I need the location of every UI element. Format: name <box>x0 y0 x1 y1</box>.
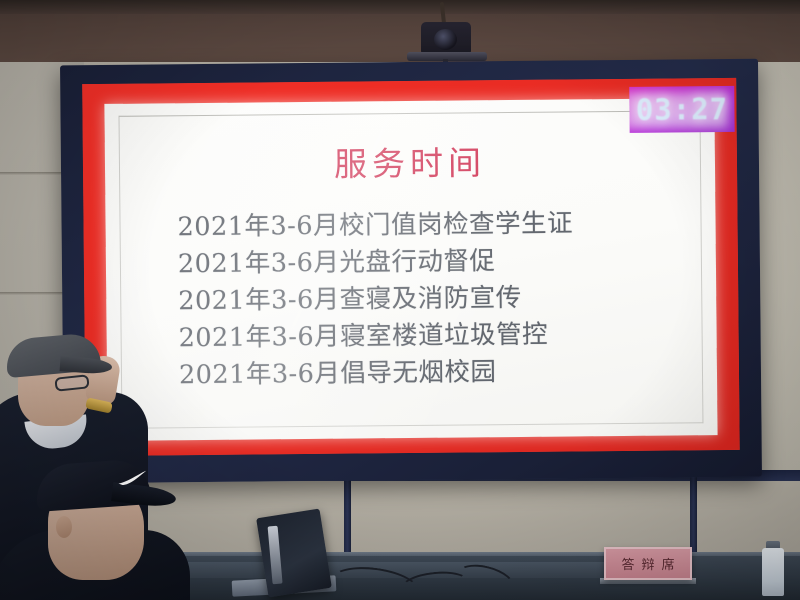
presentation-display[interactable]: 服务时间 2021年3-6月校门值岗检查学生证 2021年3-6月光盘行动督促 … <box>60 59 762 484</box>
water-bottle <box>762 548 784 596</box>
slide-body: 2021年3-6月校门值岗检查学生证 2021年3-6月光盘行动督促 2021年… <box>177 204 709 394</box>
slide-canvas: 服务时间 2021年3-6月校门值岗检查学生证 2021年3-6月光盘行动督促 … <box>104 98 717 441</box>
conference-room-scene: 服务时间 2021年3-6月校门值岗检查学生证 2021年3-6月光盘行动督促 … <box>0 0 800 600</box>
person-b-ear <box>56 516 72 538</box>
slide-line-3: 2021年3-6月查寝及消防宣传 <box>178 278 708 320</box>
timer-value: 03:27 <box>636 92 729 127</box>
laptop-screen[interactable] <box>256 508 332 597</box>
desk-nameplate: 答辩席 <box>604 547 692 580</box>
display-bezel-inner: 服务时间 2021年3-6月校门值岗检查学生证 2021年3-6月光盘行动督促 … <box>82 78 740 456</box>
slide-line-4: 2021年3-6月寝室楼道垃圾管控 <box>178 315 708 357</box>
laptop-screen-glint <box>268 526 283 585</box>
slide-line-1: 2021年3-6月校门值岗检查学生证 <box>177 204 707 246</box>
slide-line-2: 2021年3-6月光盘行动督促 <box>178 241 708 283</box>
ceiling-shadow <box>0 0 800 14</box>
ceiling-camera <box>405 2 495 68</box>
slide-line-5: 2021年3-6月倡导无烟校园 <box>179 352 709 394</box>
wall-upper <box>0 0 800 62</box>
slide-title: 服务时间 <box>105 134 715 188</box>
nameplate-text: 答辩席 <box>614 554 681 573</box>
countdown-timer: 03:27 <box>629 86 734 133</box>
camera-lens-icon <box>434 29 457 50</box>
